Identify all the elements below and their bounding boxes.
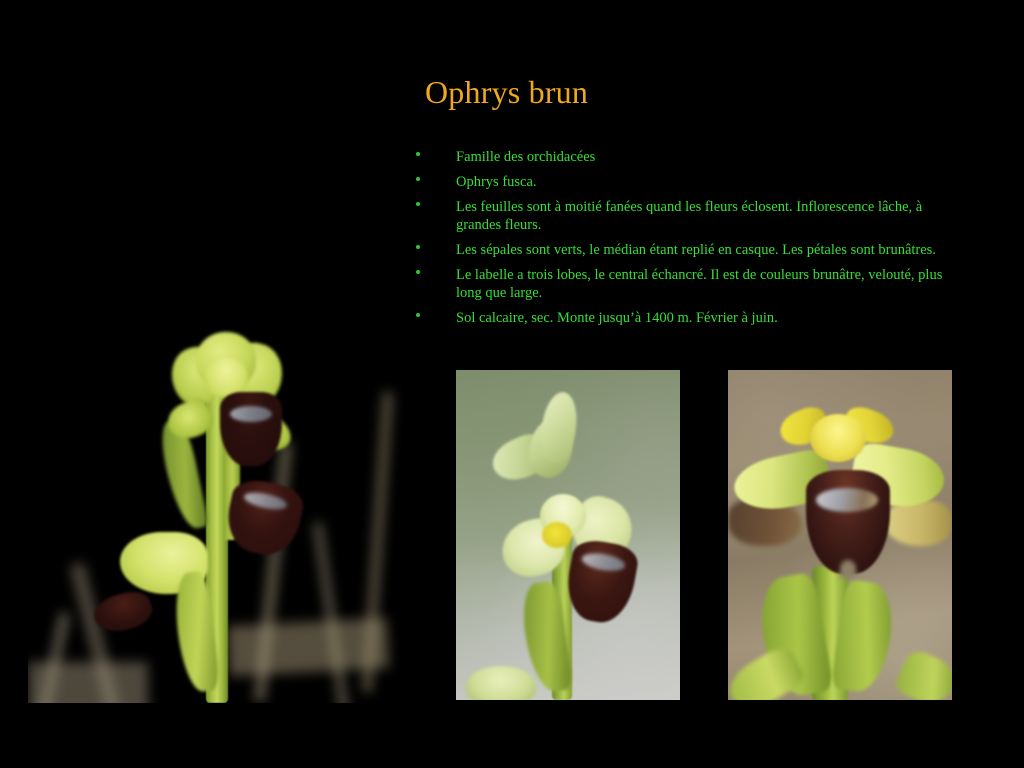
orchid-leaf	[893, 647, 952, 700]
list-item: Famille des orchidacées	[414, 148, 970, 166]
middle-orchid-photo	[456, 370, 680, 700]
bullet-dot-icon	[416, 202, 420, 206]
list-item-label: Sol calcaire, sec. Monte jusqu’à 1400 m.…	[456, 309, 970, 327]
orchid-speculum	[243, 490, 289, 513]
orchid-labellum	[806, 470, 890, 574]
list-item-label: Le labelle a trois lobes, le central éch…	[456, 266, 970, 302]
bullet-dot-icon	[416, 245, 420, 249]
list-item-label: Famille des orchidacées	[456, 148, 970, 166]
right-orchid-photo	[728, 370, 952, 700]
orchid-speculum	[816, 488, 878, 512]
orchid-labellum	[221, 475, 306, 560]
presentation-slide: Ophrys brun Famille des orchidacées Ophr…	[0, 0, 1024, 768]
orchid-labellum	[562, 537, 641, 627]
orchid-column	[542, 522, 572, 548]
list-item-label: Ophrys fusca.	[456, 173, 970, 191]
background-blur-patch	[227, 618, 389, 676]
main-orchid-photo	[28, 142, 410, 703]
bullet-dot-icon	[416, 313, 420, 317]
orchid-speculum	[580, 550, 626, 573]
bullet-dot-icon	[416, 270, 420, 274]
bullet-dot-icon	[416, 177, 420, 181]
list-item: Les feuilles sont à moitié fanées quand …	[414, 198, 970, 234]
bullet-dot-icon	[416, 152, 420, 156]
bullet-list: Famille des orchidacées Ophrys fusca. Le…	[414, 148, 970, 334]
page-title: Ophrys brun	[425, 74, 588, 110]
orchid-bud	[537, 390, 580, 464]
background-blur-patch	[884, 500, 952, 546]
list-item: Les sépales sont verts, le médian étant …	[414, 241, 970, 259]
list-item-label: Les sépales sont verts, le médian étant …	[456, 241, 970, 259]
list-item-label: Les feuilles sont à moitié fanées quand …	[456, 198, 970, 234]
background-grass-streak	[314, 522, 349, 703]
list-item: Le labelle a trois lobes, le central éch…	[414, 266, 970, 302]
orchid-column	[810, 414, 866, 462]
background-blur-patch	[28, 662, 148, 703]
orchid-speculum	[230, 406, 272, 422]
list-item: Sol calcaire, sec. Monte jusqu’à 1400 m.…	[414, 309, 970, 327]
orchid-labellum-notch	[840, 560, 856, 578]
orchid-labellum	[220, 392, 282, 466]
list-item: Ophrys fusca.	[414, 173, 970, 191]
orchid-lower-flower	[466, 666, 536, 700]
